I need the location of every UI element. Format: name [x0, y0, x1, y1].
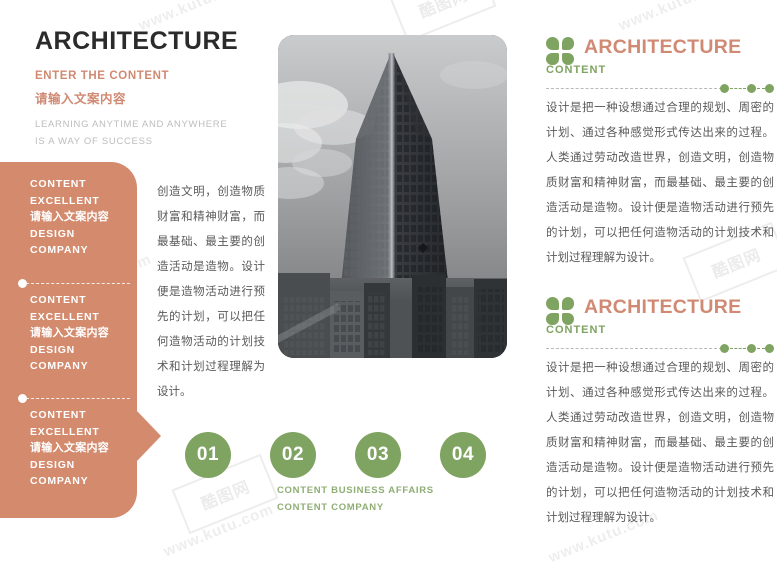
clover-petal [546, 37, 559, 50]
sidebar-group-2-line-3: 请输入文案内容 [30, 325, 140, 342]
slide-canvas: www.kutu.com www.kutu.com www.kutu.com w… [0, 0, 777, 549]
sidebar-divider-2 [18, 394, 130, 404]
rule-dot-green [765, 344, 774, 353]
sidebar-group-1-line-5: COMPANY [30, 242, 140, 259]
right-block-1-subtitle: CONTENT [546, 64, 606, 76]
clover-petal [562, 297, 575, 310]
step-circle-02[interactable]: 02 [270, 432, 316, 478]
sidebar-group-3-line-2: EXCELLENT [30, 424, 140, 441]
clover-icon [546, 37, 574, 65]
rule-dash-gray [546, 348, 722, 349]
sidebar-group-3-line-1: CONTENT [30, 407, 140, 424]
right-block-1: ARCHITECTURE CONTENT 设计是把一种设想通过合理的规划、周密的… [546, 36, 774, 283]
sidebar-group-1-line-3: 请输入文案内容 [30, 209, 140, 226]
sidebar-group-1-line-2: EXCELLENT [30, 193, 140, 210]
right-block-2-title: ARCHITECTURE [584, 296, 741, 319]
step-circle-04[interactable]: 04 [440, 432, 486, 478]
steps-caption-line-2: CONTENT COMPANY [277, 499, 517, 516]
watermark-url: www.kutu.com [616, 0, 731, 34]
sidebar-group-1-line-4: DESIGN [30, 226, 140, 243]
right-block-1-rule [546, 84, 774, 93]
sidebar-divider-dash [26, 398, 130, 399]
right-block-1-header: ARCHITECTURE CONTENT [546, 36, 774, 88]
steps-caption: CONTENT BUSINESS AFFAIRS CONTENT COMPANY [277, 482, 517, 516]
header-block: ARCHITECTURE ENTER THE CONTENT 请输入文案内容 L… [35, 28, 265, 151]
steps-caption-line-1: CONTENT BUSINESS AFFAIRS [277, 482, 517, 499]
rule-dot-green [720, 344, 729, 353]
header-subtitle-cn: 请输入文案内容 [35, 88, 265, 107]
rule-dash-green [757, 348, 765, 349]
skyscraper-illustration [278, 35, 507, 358]
right-block-1-title: ARCHITECTURE [584, 36, 741, 59]
step-circle-03[interactable]: 03 [355, 432, 401, 478]
watermark-url: www.kutu.com [161, 501, 276, 561]
right-block-2-body: 设计是把一种设想通过合理的规划、周密的计划、通过各种感觉形式传达出来的过程。人类… [546, 356, 774, 531]
sidebar-group-1-line-1: CONTENT [30, 176, 140, 193]
sidebar-group-2-line-4: DESIGN [30, 342, 140, 359]
sidebar-group-3-line-5: COMPANY [30, 473, 140, 490]
clover-petal [546, 297, 559, 310]
rule-dot-green [720, 84, 729, 93]
right-block-2-subtitle: CONTENT [546, 324, 606, 336]
sidebar-group-1[interactable]: CONTENT EXCELLENT 请输入文案内容 DESIGN COMPANY [30, 176, 140, 259]
right-block-2-header: ARCHITECTURE CONTENT [546, 296, 774, 348]
rule-dot-green [765, 84, 774, 93]
clover-icon [546, 297, 574, 325]
sidebar-panel: CONTENT EXCELLENT 请输入文案内容 DESIGN COMPANY… [0, 162, 137, 518]
right-block-1-body: 设计是把一种设想通过合理的规划、周密的计划、通过各种感觉形式传达出来的过程。人类… [546, 96, 774, 271]
sidebar-divider-1 [18, 279, 130, 289]
step-circle-01[interactable]: 01 [185, 432, 231, 478]
rule-dash-green [730, 348, 746, 349]
right-block-2: ARCHITECTURE CONTENT 设计是把一种设想通过合理的规划、周密的… [546, 296, 774, 543]
rule-dash-green [757, 88, 765, 89]
step-number-list: 01 02 03 04 [185, 432, 495, 478]
sidebar-group-3-line-3: 请输入文案内容 [30, 440, 140, 457]
middle-paragraph: 创造文明，创造物质财富和精神财富，而最基础、最主要的创造活动是造物。设计便是造物… [157, 180, 265, 405]
sidebar-group-3[interactable]: CONTENT EXCELLENT 请输入文案内容 DESIGN COMPANY [30, 407, 140, 490]
sidebar-group-2[interactable]: CONTENT EXCELLENT 请输入文案内容 DESIGN COMPANY [30, 292, 140, 375]
skyscraper-photo [278, 35, 507, 358]
sidebar-group-2-line-2: EXCELLENT [30, 309, 140, 326]
rule-dot-green [747, 84, 756, 93]
rule-dash-gray [546, 88, 722, 89]
rule-dot-green [747, 344, 756, 353]
sidebar-arrow-icon [137, 411, 161, 461]
header-tagline: LEARNING ANYTIME AND ANYWHERE IS A WAY O… [35, 116, 235, 151]
sidebar-group-3-line-4: DESIGN [30, 457, 140, 474]
sidebar-group-2-line-1: CONTENT [30, 292, 140, 309]
sidebar-group-2-line-5: COMPANY [30, 358, 140, 375]
right-block-2-rule [546, 344, 774, 353]
rule-dash-green [730, 88, 746, 89]
sidebar-divider-dash [26, 283, 130, 284]
page-title: ARCHITECTURE [35, 28, 265, 56]
clover-petal [562, 37, 575, 50]
header-subtitle-en: ENTER THE CONTENT [35, 70, 265, 82]
